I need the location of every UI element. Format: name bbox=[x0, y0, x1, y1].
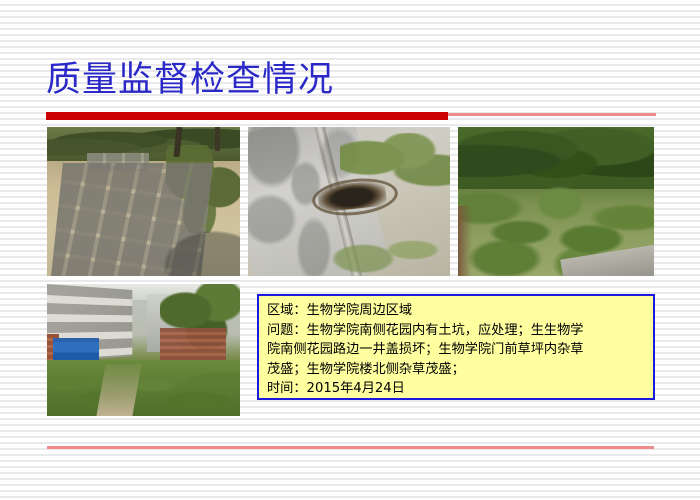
info-line-issue-3: 茂盛；生物学院楼北侧杂草茂盛； bbox=[267, 360, 645, 380]
page-title: 质量监督检查情况 bbox=[46, 58, 334, 102]
info-line-date: 时间：2015年4月24日 bbox=[267, 379, 645, 399]
photo-stone-path bbox=[47, 127, 240, 276]
photo-broken-manhole bbox=[248, 127, 450, 276]
photo-grass bbox=[326, 218, 450, 276]
info-callout-box: 区域：生物学院周边区域 问题：生物学院南侧花园内有土坑，应处理；生生物学 院南侧… bbox=[257, 294, 655, 400]
bottom-accent-line bbox=[47, 446, 654, 449]
info-line-area: 区域：生物学院周边区域 bbox=[267, 301, 645, 321]
photo-building-weeds bbox=[47, 284, 240, 416]
title-underline-bar bbox=[46, 112, 448, 120]
photo-weeds bbox=[47, 360, 240, 416]
photo-weedy-lawn bbox=[458, 127, 654, 276]
photo-dirt-edge bbox=[458, 206, 472, 276]
title-underline-extension bbox=[448, 113, 656, 116]
photo-shadow bbox=[154, 224, 240, 276]
info-line-issue-2: 院南侧花园路边一井盖损坏；生物学院门前草坪内杂草 bbox=[267, 340, 645, 360]
info-line-issue-1: 问题：生物学院南侧花园内有土坑，应处理；生生物学 bbox=[267, 321, 645, 341]
photo-tree-trunk bbox=[215, 127, 220, 151]
slide-canvas: 质量监督检查情况 bbox=[0, 0, 700, 500]
photo-brick-wall bbox=[160, 328, 226, 362]
